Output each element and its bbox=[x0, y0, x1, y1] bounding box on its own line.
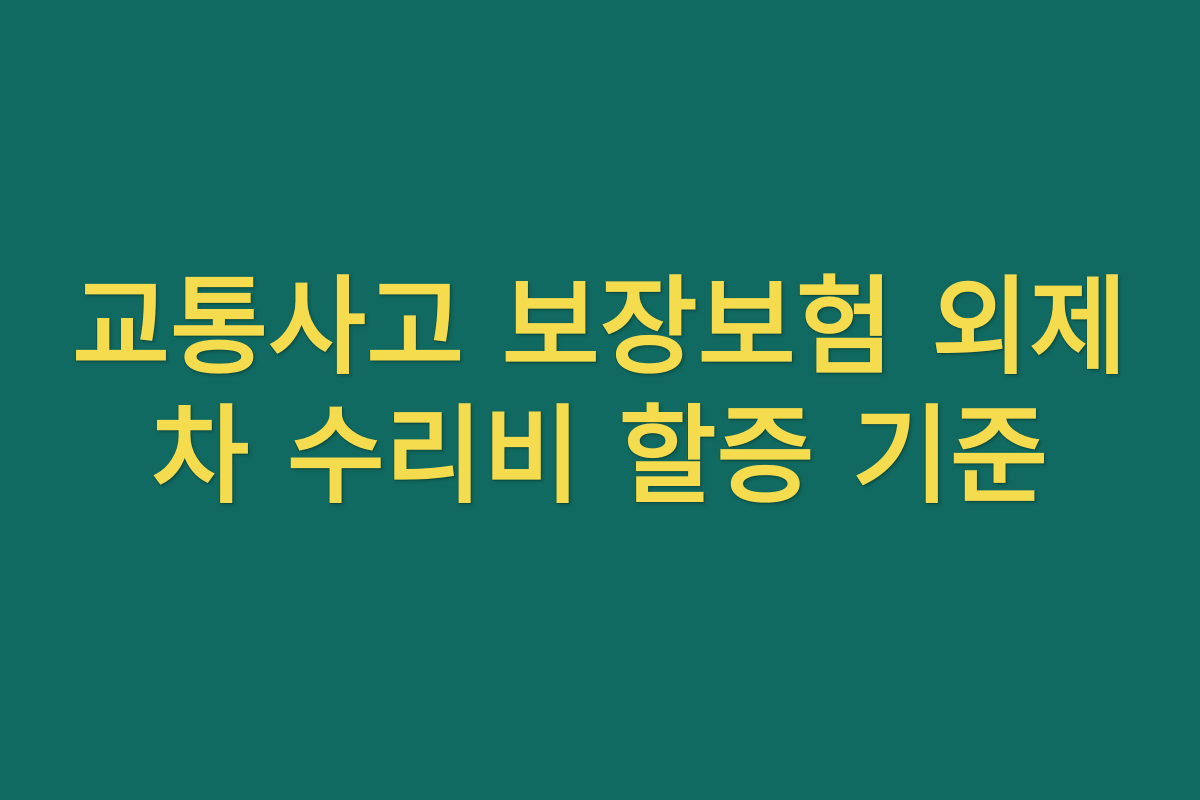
banner-canvas: 교통사고 보장보험 외제 차 수리비 할증 기준 bbox=[0, 0, 1200, 800]
banner-title-line-2: 차 수리비 할증 기준 bbox=[40, 392, 1160, 521]
banner-title-line-1: 교통사고 보장보험 외제 bbox=[40, 263, 1160, 392]
banner-title: 교통사고 보장보험 외제 차 수리비 할증 기준 bbox=[40, 263, 1160, 522]
